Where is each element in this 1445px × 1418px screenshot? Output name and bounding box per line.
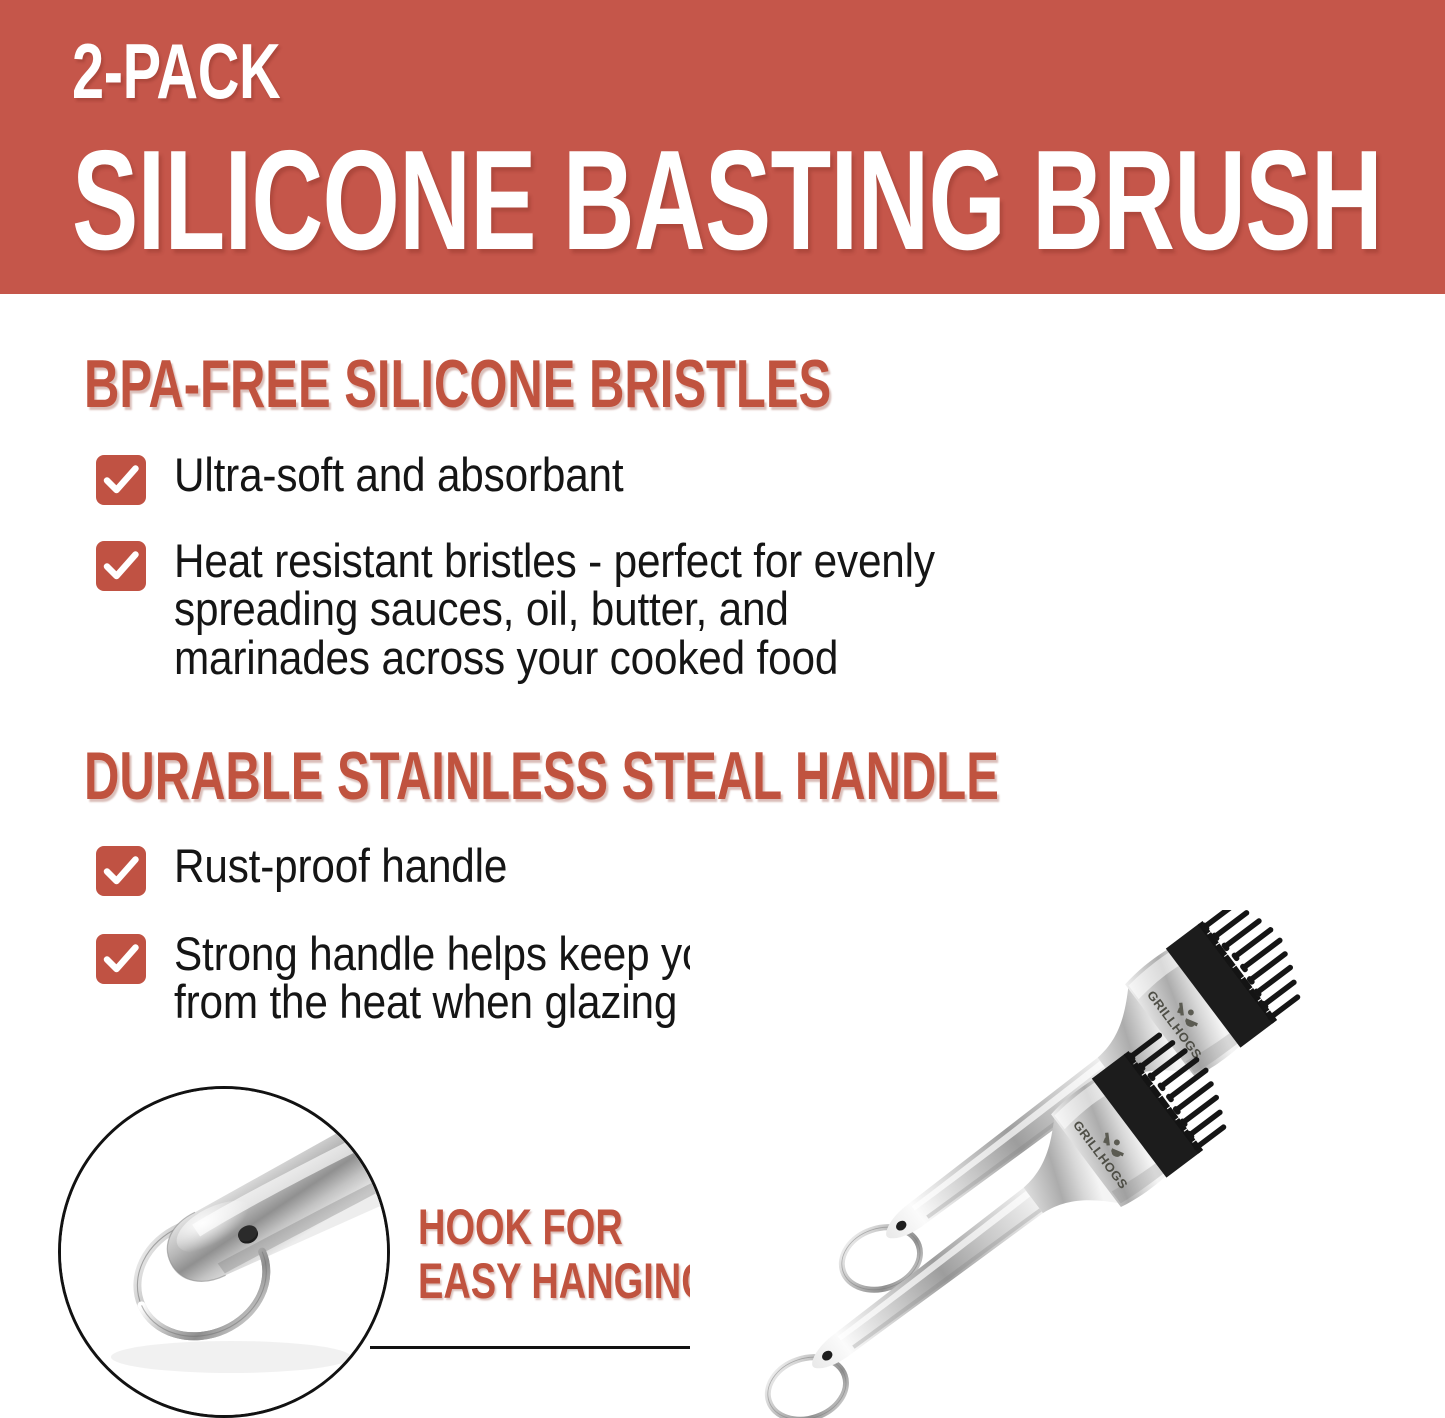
checkbox-check-icon xyxy=(96,541,146,591)
banner-kicker: 2-PACK xyxy=(72,34,1056,108)
checkbox-check-icon xyxy=(96,455,146,505)
section-heading-bristles: BPA-FREE SILICONE BRISTLES xyxy=(84,350,831,418)
checkbox-check-icon xyxy=(96,934,146,984)
banner-title: SILICONE BASTING BRUSH xyxy=(72,134,1003,269)
feature-item: Rust-proof handle xyxy=(96,842,544,896)
header-banner: 2-PACK SILICONE BASTING BRUSH xyxy=(0,0,1445,294)
feature-item: Heat resistant bristles - perfect for ev… xyxy=(96,537,1019,682)
hook-detail-callout-circle xyxy=(58,1086,390,1418)
feature-text: Heat resistant bristles - perfect for ev… xyxy=(174,537,935,682)
feature-text: Ultra-soft and absorbant xyxy=(174,451,623,499)
callout-label: HOOK FOR EASY HANGING! xyxy=(418,1200,723,1308)
product-image: GRILLHOGS GRILLHOGS Two stainless xyxy=(690,910,1445,1418)
checkbox-check-icon xyxy=(96,846,146,896)
feature-text: Rust-proof handle xyxy=(174,842,507,890)
callout-connector-line xyxy=(370,1346,732,1349)
feature-item: Ultra-soft and absorbant xyxy=(96,451,673,505)
header-banner-text: 2-PACK SILICONE BASTING BRUSH xyxy=(72,34,1402,269)
section-heading-handle: DURABLE STAINLESS STEAL HANDLE xyxy=(84,742,999,810)
